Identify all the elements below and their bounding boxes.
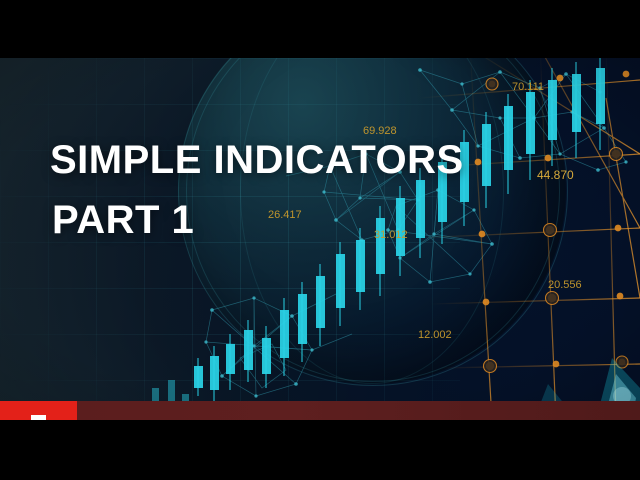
letterbox-top [0, 0, 640, 58]
title-block: SIMPLE INDICATORS PART 1 [50, 130, 464, 250]
letterbox-bottom [0, 420, 640, 480]
video-thumbnail: 70.111 69.928 44.870 31.012 26.417 20.55… [0, 0, 640, 480]
lower-third-bar: Forex Course 101 [0, 401, 640, 420]
swiss-flag-icon [0, 401, 77, 420]
title-line-1: SIMPLE INDICATORS [50, 130, 464, 190]
flag-cross-vertical [31, 415, 46, 420]
title-line-2: PART 1 [50, 190, 464, 250]
video-frame: 70.111 69.928 44.870 31.012 26.417 20.55… [0, 58, 640, 420]
channel-name: Forex Course 101 [102, 420, 385, 421]
